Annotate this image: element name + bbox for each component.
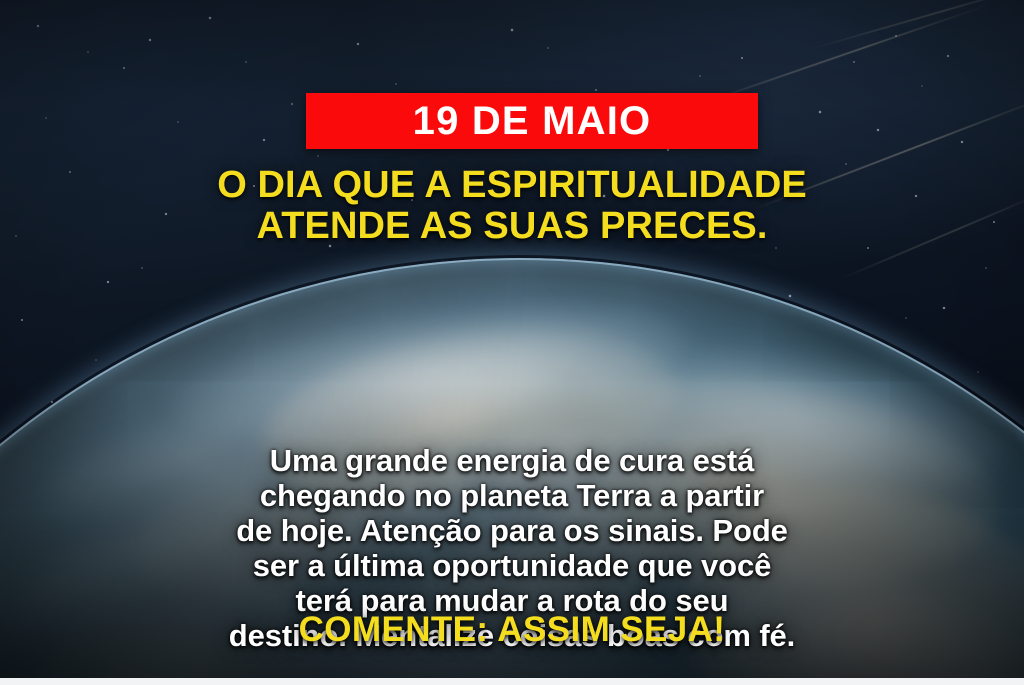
- poster-content: 19 DE MAIO O DIA QUE A ESPIRITUALIDADE A…: [0, 0, 1024, 685]
- bottom-edge-strip: [0, 678, 1024, 685]
- headline: O DIA QUE A ESPIRITUALIDADE ATENDE AS SU…: [0, 165, 1024, 247]
- body-line-2: chegando no planeta Terra a partir: [72, 478, 952, 513]
- body-line-4: ser a última oportunidade que você: [72, 548, 952, 583]
- body-line-1: Uma grande energia de cura está: [72, 443, 952, 478]
- date-banner-label: 19 DE MAIO: [413, 101, 652, 141]
- headline-line-1: O DIA QUE A ESPIRITUALIDADE: [0, 165, 1024, 206]
- body-line-3: de hoje. Atenção para os sinais. Pode: [72, 513, 952, 548]
- date-banner: 19 DE MAIO: [306, 93, 758, 149]
- headline-line-2: ATENDE AS SUAS PRECES.: [0, 206, 1024, 247]
- poster-canvas: 19 DE MAIO O DIA QUE A ESPIRITUALIDADE A…: [0, 0, 1024, 685]
- call-to-action-text: COMENTE: ASSIM SEJA!: [0, 612, 1024, 647]
